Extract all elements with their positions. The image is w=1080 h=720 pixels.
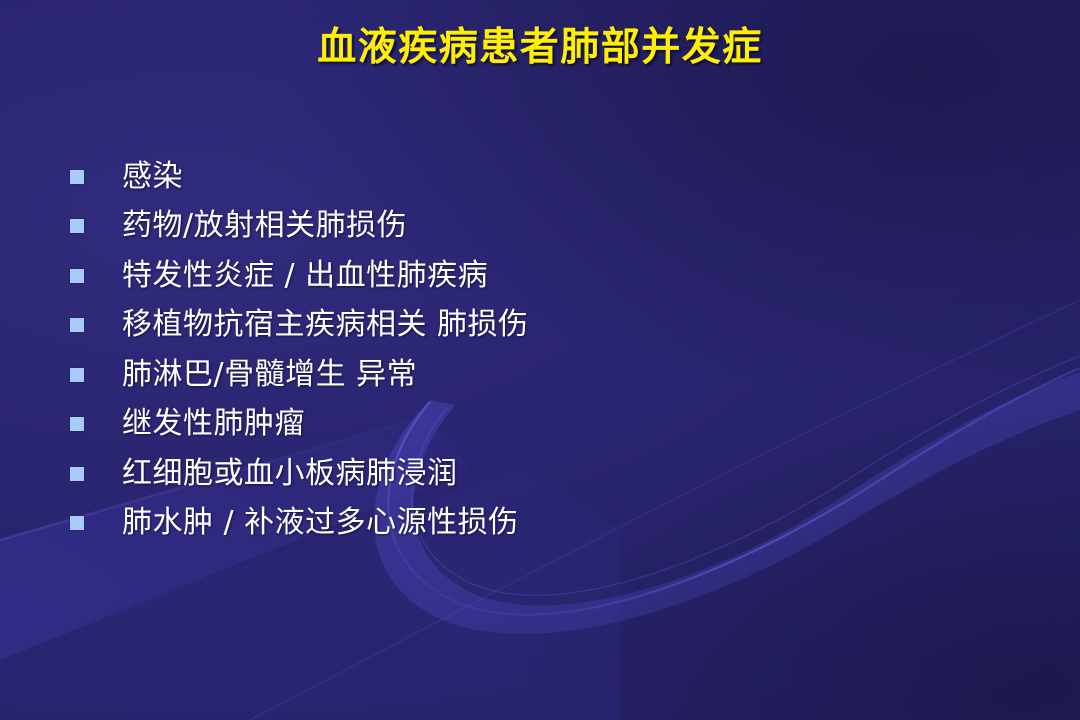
square-bullet-icon (70, 318, 84, 332)
square-bullet-icon (70, 219, 84, 233)
list-item: 药物/放射相关肺损伤 (70, 202, 1010, 252)
presentation-slide: 血液疾病患者肺部并发症 感染 药物/放射相关肺损伤 特发性炎症 / 出血性肺疾病… (0, 0, 1080, 720)
list-item: 红细胞或血小板病肺浸润 (70, 449, 1010, 499)
list-item: 肺水肿 / 补液过多心源性损伤 (70, 499, 1010, 549)
list-item-label: 红细胞或血小板病肺浸润 (122, 459, 458, 489)
list-item: 特发性炎症 / 出血性肺疾病 (70, 251, 1010, 301)
square-bullet-icon (70, 467, 84, 481)
list-item-label: 继发性肺肿瘤 (122, 409, 305, 439)
square-bullet-icon (70, 368, 84, 382)
list-item-label: 肺淋巴/骨髓增生 异常 (122, 360, 417, 390)
list-item-label: 特发性炎症 / 出血性肺疾病 (122, 261, 488, 291)
bullet-list: 感染 药物/放射相关肺损伤 特发性炎症 / 出血性肺疾病 移植物抗宿主疾病相关 … (70, 152, 1010, 548)
square-bullet-icon (70, 417, 84, 431)
list-item-label: 感染 (122, 162, 183, 192)
list-item: 继发性肺肿瘤 (70, 400, 1010, 450)
list-item: 移植物抗宿主疾病相关 肺损伤 (70, 301, 1010, 351)
square-bullet-icon (70, 269, 84, 283)
list-item-label: 药物/放射相关肺损伤 (122, 211, 407, 241)
list-item-label: 肺水肿 / 补液过多心源性损伤 (122, 508, 519, 538)
list-item: 肺淋巴/骨髓增生 异常 (70, 350, 1010, 400)
page-title: 血液疾病患者肺部并发症 (317, 26, 763, 71)
list-item-label: 移植物抗宿主疾病相关 肺损伤 (122, 310, 529, 340)
square-bullet-icon (70, 170, 84, 184)
square-bullet-icon (70, 516, 84, 530)
slide-title-container: 血液疾病患者肺部并发症 (0, 26, 1080, 71)
list-item: 感染 (70, 152, 1010, 202)
